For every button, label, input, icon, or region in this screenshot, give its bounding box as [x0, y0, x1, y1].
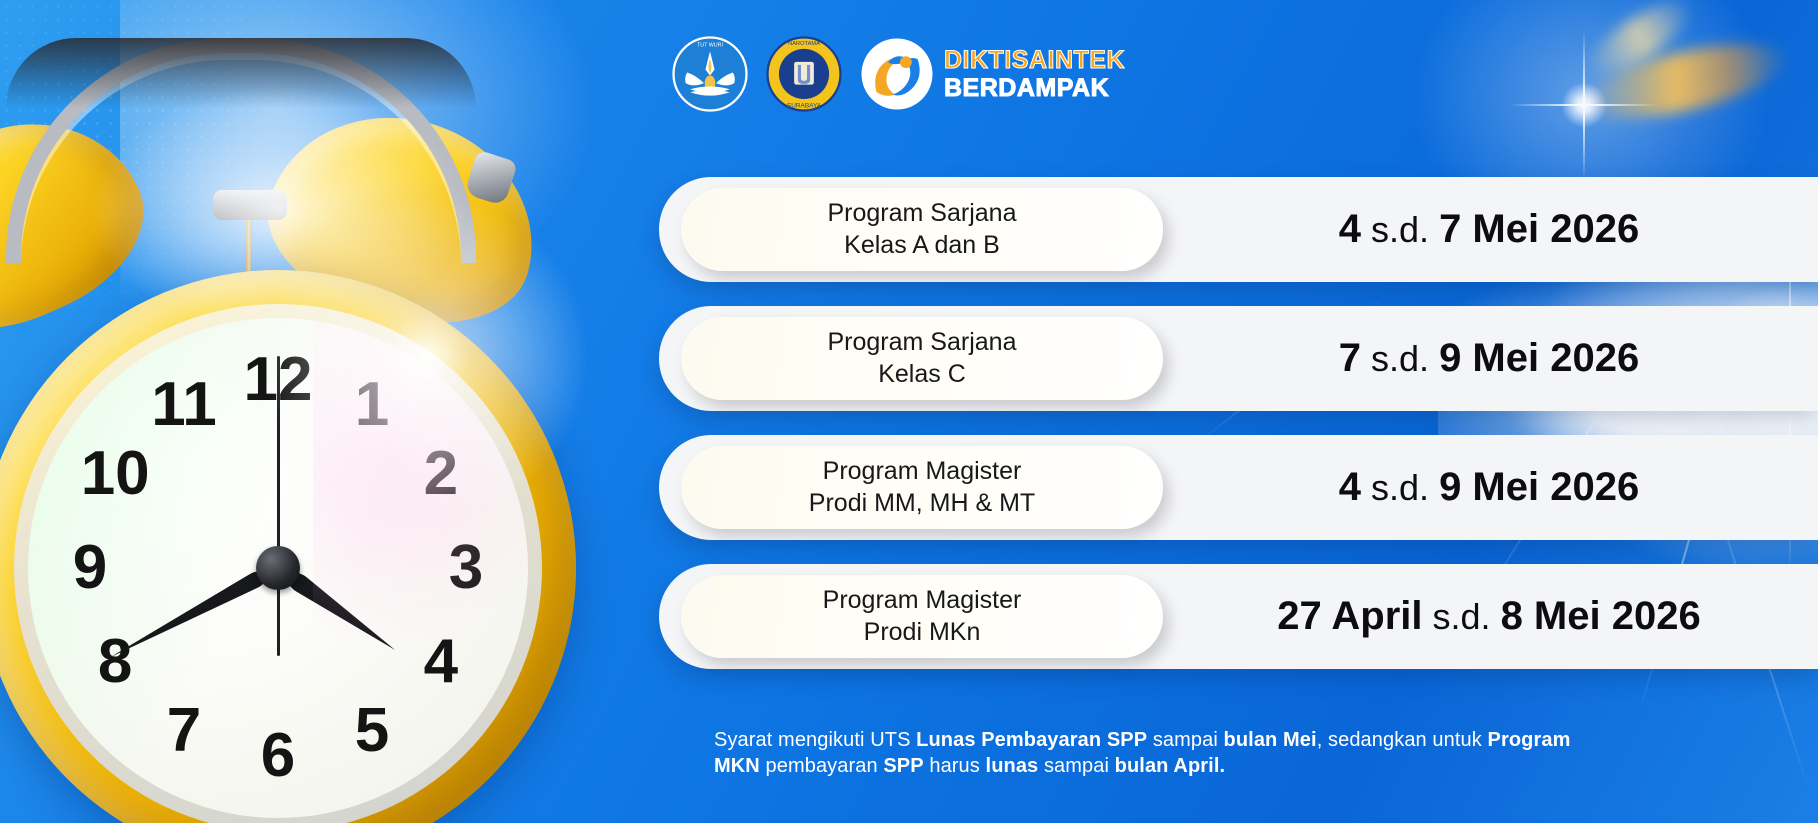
note-segment: Syarat mengikuti UTS — [714, 729, 916, 751]
schedule-card: Program SarjanaKelas A dan B4 s.d. 7 Mei… — [659, 177, 1818, 282]
program-subtitle: Kelas C — [878, 359, 966, 391]
program-name-pill: Program MagisterProdi MKn — [681, 575, 1163, 658]
program-title: Program Sarjana — [828, 327, 1017, 359]
lens-flare-icon — [1579, 30, 1792, 133]
clock-tick — [278, 567, 509, 593]
clock-numeral: 9 — [73, 537, 107, 599]
date-separator: s.d. — [1361, 338, 1439, 379]
diktisaintek-label: DIKTISAINTEK — [944, 48, 1125, 73]
clock-center-pin — [256, 546, 300, 590]
date-end: 9 Mei 2026 — [1439, 465, 1639, 509]
date-separator: s.d. — [1361, 209, 1439, 250]
exam-date-range: 27 April s.d. 8 Mei 2026 — [1179, 594, 1799, 639]
svg-text:SURABAYA: SURABAYA — [787, 102, 822, 109]
note-segment: sampai — [1147, 729, 1223, 751]
svg-text:PRO PATRIA: PRO PATRIA — [793, 86, 816, 90]
date-end: 8 Mei 2026 — [1501, 594, 1701, 638]
date-start: 4 — [1339, 465, 1361, 509]
note-segment: bulan Mei — [1224, 729, 1317, 751]
berdampak-label: BERDAMPAK — [944, 76, 1125, 101]
lens-flare-small-icon — [1579, 0, 1701, 88]
diktisaintek-mark-icon — [860, 37, 934, 111]
schedule-card-list: Program SarjanaKelas A dan B4 s.d. 7 Mei… — [659, 177, 1818, 669]
svg-text:NAROTAMA: NAROTAMA — [788, 41, 820, 47]
date-start: 7 — [1339, 336, 1361, 380]
exam-date-range: 4 s.d. 7 Mei 2026 — [1179, 207, 1799, 252]
clock-numeral: 1 — [355, 374, 389, 436]
program-title: Program Magister — [823, 456, 1022, 488]
program-name-pill: Program SarjanaKelas A dan B — [681, 188, 1163, 271]
tut-wuri-handayani-logo-icon: TUT WURI — [672, 36, 748, 112]
program-subtitle: Kelas A dan B — [844, 230, 1000, 262]
uts-schedule-banner: 121234567891011 TUT WURI PRO — [0, 0, 1818, 823]
program-title: Program Magister — [823, 585, 1022, 617]
payment-requirement-note: Syarat mengikuti UTS Lunas Pembayaran SP… — [714, 727, 1594, 780]
note-segment: , sedangkan untuk — [1317, 729, 1488, 751]
program-subtitle: Prodi MKn — [864, 617, 981, 649]
clock-numeral: 6 — [261, 725, 295, 787]
clock-face: 121234567891011 — [28, 318, 528, 818]
note-segment: Lunas Pembayaran SPP — [916, 729, 1147, 751]
exam-date-range: 7 s.d. 9 Mei 2026 — [1179, 336, 1799, 381]
program-name-pill: Program SarjanaKelas C — [681, 317, 1163, 400]
sparkle-star-icon — [1509, 30, 1659, 180]
note-segment: pembayaran — [760, 755, 884, 777]
clock-tick — [278, 567, 510, 569]
clock-tick — [278, 543, 509, 569]
universitas-narotama-logo-icon: PRO PATRIA NAROTAMA SURABAYA — [766, 36, 842, 112]
date-start: 27 April — [1277, 594, 1422, 638]
note-segment: bulan April. — [1115, 755, 1225, 777]
svg-text:TUT WURI: TUT WURI — [697, 43, 723, 49]
program-name-pill: Program MagisterProdi MM, MH & MT — [681, 446, 1163, 529]
clock-numeral: 5 — [355, 700, 389, 762]
date-start: 4 — [1339, 207, 1361, 251]
program-subtitle: Prodi MM, MH & MT — [809, 488, 1035, 520]
program-title: Program Sarjana — [828, 198, 1017, 230]
clock-numeral: 7 — [167, 700, 201, 762]
alarm-clock-illustration: 121234567891011 — [0, 0, 630, 823]
exam-date-range: 4 s.d. 9 Mei 2026 — [1179, 465, 1799, 510]
diktisaintek-berdampak-logo: DIKTISAINTEK BERDAMPAK — [860, 37, 1125, 111]
clock-hammer — [213, 190, 287, 220]
clock-numeral: 11 — [151, 374, 217, 436]
schedule-card: Program MagisterProdi MM, MH & MT4 s.d. … — [659, 435, 1818, 540]
note-segment: sampai — [1038, 755, 1114, 777]
clock-numeral: 4 — [424, 631, 458, 693]
date-end: 7 Mei 2026 — [1439, 207, 1639, 251]
date-end: 9 Mei 2026 — [1439, 336, 1639, 380]
note-segment: SPP — [883, 755, 923, 777]
note-segment: harus — [924, 755, 986, 777]
clock-numeral: 2 — [424, 443, 458, 505]
clock-numeral: 10 — [81, 443, 150, 505]
date-separator: s.d. — [1423, 596, 1501, 637]
clock-handle — [6, 38, 476, 263]
schedule-card: Program MagisterProdi MKn27 April s.d. 8… — [659, 564, 1818, 669]
logo-row: TUT WURI PRO PATRIA NAROTAMA SURABAYA DI… — [672, 36, 1125, 112]
clock-numeral: 8 — [98, 631, 132, 693]
schedule-card: Program SarjanaKelas C7 s.d. 9 Mei 2026 — [659, 306, 1818, 411]
date-separator: s.d. — [1361, 467, 1439, 508]
note-segment: lunas — [986, 755, 1039, 777]
clock-numeral: 3 — [449, 537, 483, 599]
